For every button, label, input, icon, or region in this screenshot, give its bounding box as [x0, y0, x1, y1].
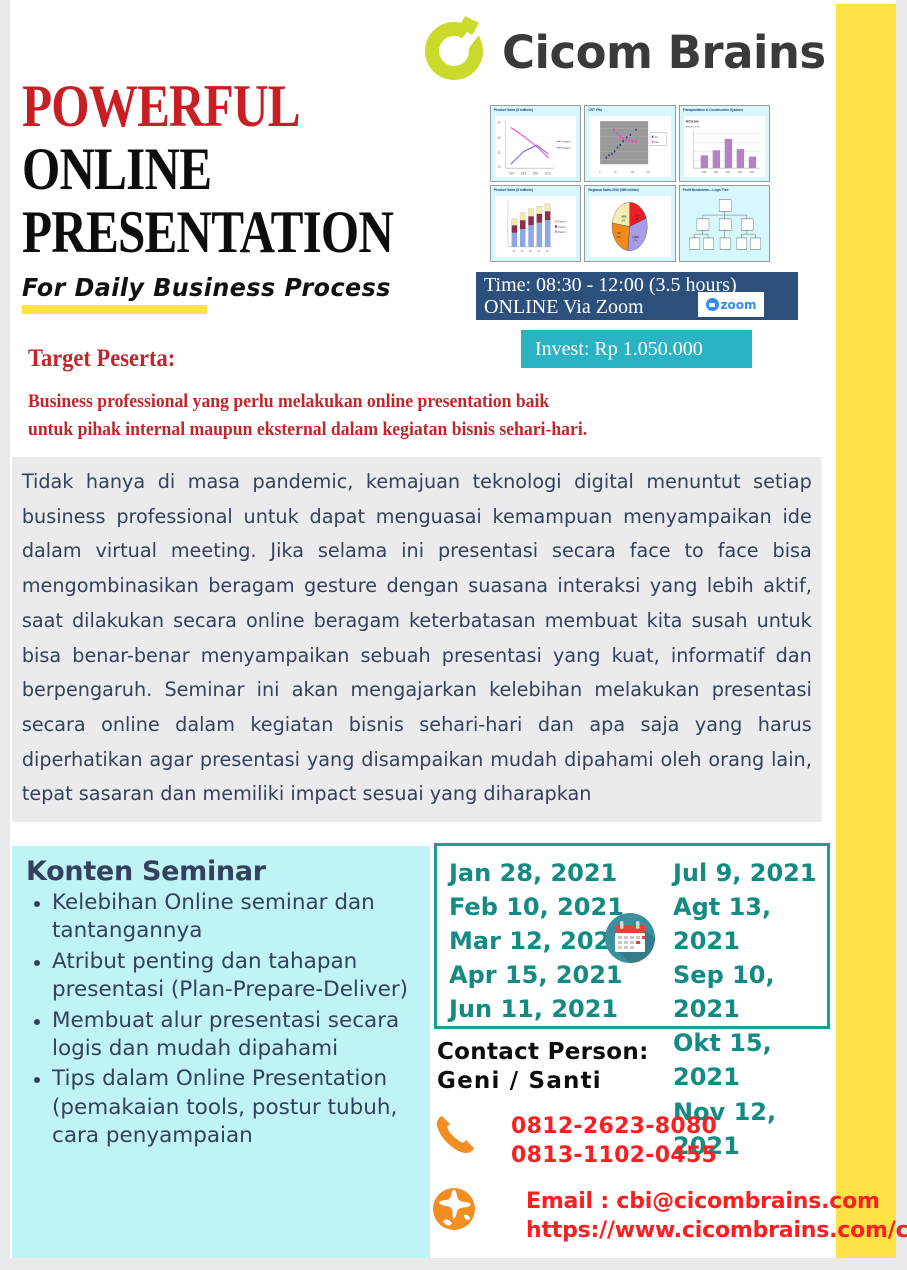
target-body: Business professional yang perlu melakuk…	[28, 388, 772, 443]
svg-text:Product z: Product z	[558, 220, 567, 223]
chart-thumb-logic-tree: Profit Breakdown—Logic Tree	[679, 185, 770, 262]
page-edge-bottom	[0, 1258, 907, 1270]
contact-email[interactable]: Email : cbi@cicombrains.com	[526, 1187, 907, 1216]
seminar-content-heading: Konten Seminar	[26, 856, 422, 887]
chart-thumb-regional-sales-pie: Regional Sales-2010 ($89 million) USA 23…	[584, 185, 675, 262]
svg-text:18%: 18%	[617, 237, 621, 239]
svg-text:100: 100	[631, 170, 635, 175]
svg-text:FC2: FC2	[655, 141, 659, 144]
schedule-date: Jan 28, 2021	[449, 856, 627, 890]
svg-text:50: 50	[614, 170, 617, 175]
svg-text:2010: 2010	[545, 171, 551, 176]
chart-thumb-title: Regional Sales-2010 ($89 million)	[588, 188, 638, 192]
svg-text:150: 150	[647, 170, 651, 175]
phone-number: 0812-2623-8080	[511, 1112, 717, 1141]
svg-text:2005: 2005	[701, 170, 706, 175]
svg-text:2009: 2009	[749, 170, 754, 175]
chart-thumb-title: CRT Plot	[588, 108, 602, 112]
schedule-date: Agt 13, 2021	[673, 890, 827, 958]
headline-line-1: POWERFUL	[22, 78, 383, 135]
schedule-date: Jun 11, 2021	[449, 992, 627, 1026]
svg-text:Act: Act	[655, 136, 658, 139]
zoom-camera-glyph	[706, 298, 719, 311]
svg-text:23%: 23%	[636, 219, 640, 221]
svg-text:EU: EU	[618, 231, 621, 236]
svg-text:0: 0	[599, 170, 601, 175]
globe-icon	[430, 1185, 478, 1233]
list-item: Membuat alur presentasi secara logis dan…	[52, 1007, 422, 1064]
chart-thumb-product-sales-stacked: Product Sales ($ millions)	[490, 185, 581, 262]
contact-heading-block: Contact Person: Geni / Santi	[437, 1038, 649, 1097]
phone-icon	[432, 1112, 478, 1158]
target-body-line-2: untuk pihak internal maupun eksternal da…	[28, 416, 772, 444]
schedule-date: Sep 10, 2021	[673, 958, 827, 1026]
svg-text:2009: 2009	[533, 171, 539, 176]
cicom-brains-logo-icon	[417, 14, 491, 88]
svg-text:2007: 2007	[509, 171, 515, 176]
svg-text:Product x: Product x	[558, 231, 567, 234]
svg-text:50: 50	[498, 120, 501, 125]
list-item: Tips dalam Online Presentation (pemakaia…	[52, 1065, 422, 1150]
chart-thumb-plot: 50 40 20 10 2007 2008 2009 2010 Product …	[495, 116, 576, 177]
chart-thumb-title: Product Sales ($ millions)	[494, 108, 533, 112]
contact-website[interactable]: https://www.cicombrains.com/cbi	[526, 1216, 907, 1245]
seminar-content-list: Kelebihan Online seminar dan tantanganny…	[26, 889, 422, 1150]
chart-thumb-plot	[684, 196, 765, 257]
seminar-content-panel: Konten Seminar Kelebihan Online seminar …	[12, 846, 430, 1258]
chart-thumb-title: Product Sales ($ millions)	[494, 188, 533, 192]
svg-text:09: 09	[538, 248, 541, 253]
list-item: Kelebihan Online seminar dan tantanganny…	[52, 889, 422, 946]
chart-thumb-crt-scatter: CRT Plot	[584, 105, 675, 182]
zoom-logo-icon: zoom	[698, 292, 764, 317]
svg-text:10: 10	[546, 248, 549, 253]
chart-thumb-plot: USA 23% CHINA 27% EU 18% ASIA 32%	[589, 196, 670, 257]
chart-thumb-plot: Act FC2 0 50 100 150	[589, 116, 670, 177]
chart-thumb-plot: Net Income $millions of Yen	[684, 116, 765, 177]
subtitle-underline	[22, 305, 207, 314]
svg-text:CHINA: CHINA	[633, 235, 640, 240]
flyer-page: Cicom Brains Product Sales ($ millions) …	[0, 0, 907, 1270]
svg-text:10: 10	[498, 165, 501, 170]
svg-text:$millions of Yen: $millions of Yen	[686, 125, 701, 128]
svg-text:07: 07	[521, 248, 524, 253]
headline-subtitle: For Daily Business Process	[22, 273, 440, 302]
page-edge-right	[896, 0, 907, 1270]
svg-text:20: 20	[498, 151, 501, 156]
zoom-logo-label: zoom	[721, 298, 757, 312]
schedule-date: Okt 15, 2021	[673, 1026, 827, 1094]
svg-text:08: 08	[529, 248, 532, 253]
svg-text:Product y: Product y	[558, 225, 567, 228]
schedule-date: Jul 9, 2021	[673, 856, 827, 890]
svg-text:ASIA: ASIA	[622, 214, 627, 219]
svg-text:40: 40	[498, 135, 501, 140]
schedule-panel: Jan 28, 2021 Feb 10, 2021 Mar 12, 2021 A…	[434, 843, 830, 1029]
contact-web-block: Email : cbi@cicombrains.com https://www.…	[526, 1187, 907, 1246]
chart-thumb-plot: 06 07 08 09 10 Product z Product y Produ…	[495, 196, 576, 257]
phone-number: 0813-1102-0455	[511, 1141, 717, 1170]
yellow-accent-strip	[836, 4, 896, 1258]
chart-thumbnail-grid: Product Sales ($ millions) 50 40 20 10 2…	[490, 105, 770, 262]
description-paragraph: Tidak hanya di masa pandemic, kemajuan t…	[12, 457, 822, 822]
svg-text:2008: 2008	[521, 171, 527, 176]
svg-text:Net Income: Net Income	[686, 119, 699, 124]
list-item: Atribut penting dan tahapan presentasi (…	[52, 948, 422, 1005]
investment-box: Invest: Rp 1.050.000	[521, 330, 752, 368]
target-body-line-1: Business professional yang perlu melakuk…	[28, 388, 772, 416]
calendar-icon	[601, 909, 659, 967]
chart-thumb-product-sales-line: Product Sales ($ millions) 50 40 20 10 2…	[490, 105, 581, 182]
svg-text:Product x: Product x	[562, 139, 572, 144]
svg-text:2007: 2007	[725, 170, 730, 175]
contact-names: Geni / Santi	[437, 1067, 649, 1096]
svg-text:USA: USA	[636, 213, 641, 218]
contact-phone-numbers: 0812-2623-8080 0813-1102-0455	[511, 1112, 717, 1171]
brand-name: Cicom Brains	[502, 26, 826, 79]
svg-text:32%: 32%	[622, 220, 626, 222]
contact-heading: Contact Person:	[437, 1038, 649, 1067]
headline-line-2: ONLINE	[22, 141, 383, 198]
session-time-box: Time: 08:30 - 12:00 (3.5 hours) ONLINE V…	[476, 272, 798, 320]
svg-text:2006: 2006	[713, 170, 718, 175]
chart-thumb-title: Profit Breakdown—Logic Tree	[683, 188, 729, 192]
brand-logo: Cicom Brains	[417, 12, 777, 92]
svg-text:06: 06	[513, 248, 516, 253]
headline-line-3: PRESENTATION	[22, 204, 383, 261]
chart-thumb-title: Transportation & Construction Systems	[683, 108, 743, 112]
svg-text:2008: 2008	[737, 170, 742, 175]
svg-text:Product y: Product y	[562, 146, 572, 151]
headline-block: POWERFUL ONLINE PRESENTATION For Daily B…	[22, 78, 462, 314]
svg-text:27%: 27%	[634, 241, 638, 243]
page-edge-left	[0, 0, 10, 1270]
target-heading: Target Peserta:	[28, 345, 175, 373]
chart-thumb-transportation-bar: Transportation & Construction Systems Ne…	[679, 105, 770, 182]
